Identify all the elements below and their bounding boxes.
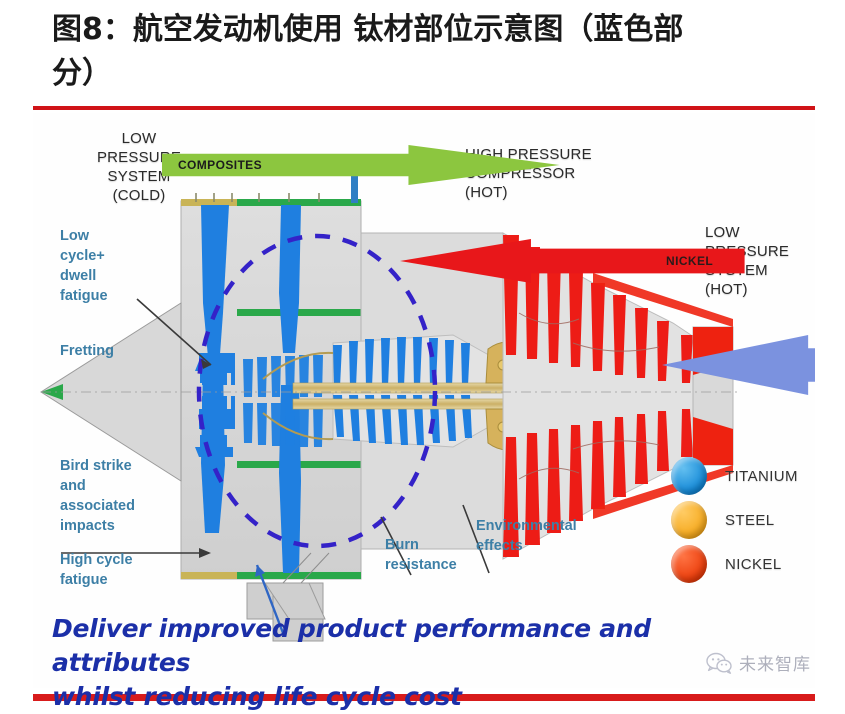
- legend-steel: STEEL: [671, 498, 798, 542]
- figure-title-line-1: 图8：航空发动机使用 钛材部位示意图（蓝色部: [52, 8, 812, 52]
- figure-title-line-2: 分）: [52, 52, 812, 96]
- composites-arrow-label: COMPOSITES: [178, 159, 262, 172]
- engine-diagram: LOW PRESSURE SYSTEM (COLD) HIGH PRESSURE…: [33, 113, 815, 688]
- legend-titanium-swatch: [671, 457, 707, 495]
- watermark-text: 未来智库: [739, 650, 811, 675]
- annotation-high-cycle-fatigue: High cycle fatigue: [60, 550, 164, 590]
- legend-titanium-label: TITANIUM: [725, 468, 798, 485]
- annotation-environmental-effects: Environmental effects: [476, 516, 596, 556]
- legend-nickel: NICKEL: [671, 542, 798, 586]
- legend-steel-swatch: [671, 501, 707, 539]
- divider-top: [33, 106, 815, 110]
- annotation-low-cycle-dwell-fatigue: Low cycle+ dwell fatigue: [60, 226, 146, 306]
- figure-page: 图8：航空发动机使用 钛材部位示意图（蓝色部 分）: [0, 0, 845, 714]
- legend-titanium: TITANIUM: [671, 454, 798, 498]
- annotation-bird-strike: Bird strike and associated impacts: [60, 456, 164, 536]
- figure-title: 图8：航空发动机使用 钛材部位示意图（蓝色部 分）: [52, 8, 812, 96]
- material-legend: TITANIUM STEEL NICKEL: [671, 454, 798, 586]
- wechat-icon: [706, 652, 732, 674]
- annotation-burn-resistance: Burn resistance: [385, 535, 477, 575]
- legend-steel-label: STEEL: [725, 512, 775, 529]
- figure-tagline: Deliver improved product performance and…: [52, 612, 752, 714]
- nickel-arrow-label: NICKEL: [666, 255, 713, 268]
- legend-nickel-label: NICKEL: [725, 556, 782, 573]
- legend-nickel-swatch: [671, 545, 707, 583]
- watermark: 未来智库: [706, 650, 811, 675]
- annotation-fretting: Fretting: [60, 341, 160, 361]
